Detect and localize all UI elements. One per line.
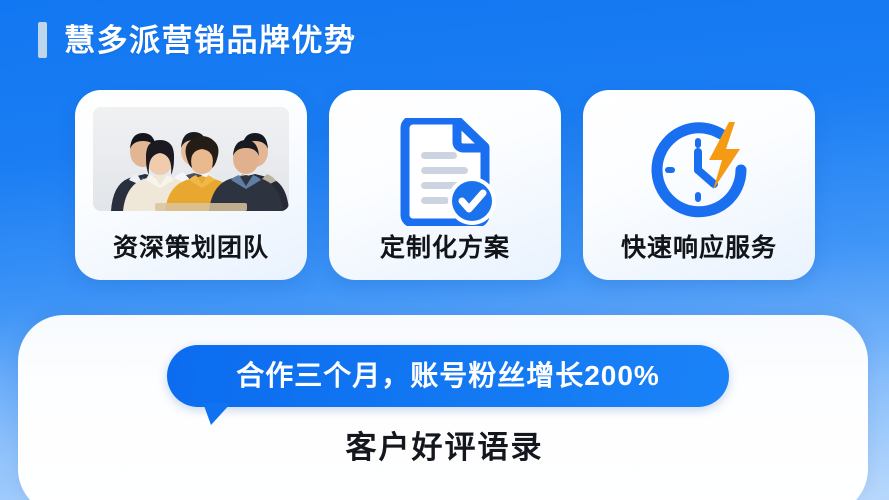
document-check-icon (386, 117, 504, 227)
document-check-icon-svg (393, 118, 497, 226)
team-photo-illustration (93, 107, 289, 211)
page-title: 慧多派营销品牌优势 (64, 25, 357, 56)
clock-lightning-icon (640, 117, 758, 227)
testimonial-bubble: 合作三个月，账号粉丝增长200% (167, 345, 729, 407)
feature-card-label: 快速响应服务 (583, 236, 815, 261)
clock-lightning-icon-svg (643, 118, 755, 226)
feature-card-custom-plan[interactable]: 定制化方案 (329, 90, 561, 280)
slide-root: 慧多派营销品牌优势 (0, 0, 889, 500)
team-photo (93, 107, 289, 211)
testimonial-caption: 客户好评语录 (0, 432, 889, 463)
feature-card-label: 定制化方案 (329, 236, 561, 261)
testimonial-panel (18, 315, 868, 500)
testimonial-bubble-text: 合作三个月，账号粉丝增长200% (236, 362, 660, 390)
page-header: 慧多派营销品牌优势 (38, 18, 357, 62)
testimonial-bubble-tail (203, 403, 231, 425)
feature-card-row: 资深策划团队 定制化方案 (75, 90, 815, 280)
feature-card-team[interactable]: 资深策划团队 (75, 90, 307, 280)
feature-card-fast-response[interactable]: 快速响应服务 (583, 90, 815, 280)
title-accent-bar (38, 22, 47, 58)
feature-card-label: 资深策划团队 (75, 236, 307, 261)
